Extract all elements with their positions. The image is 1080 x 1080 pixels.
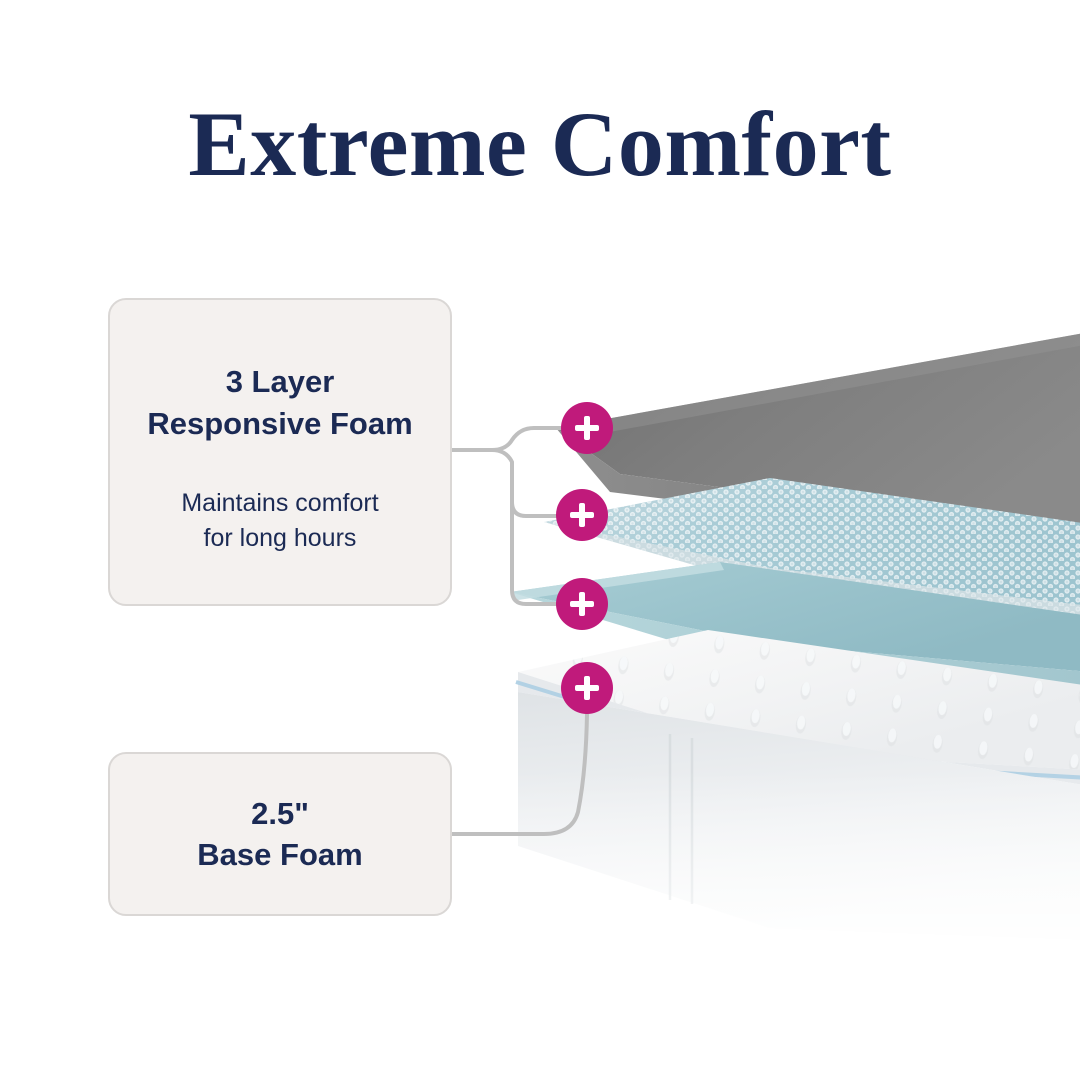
callout-card-base-foam[interactable]: 2.5" Base Foam xyxy=(108,752,452,916)
infographic-canvas: Extreme Comfort xyxy=(0,0,1080,1080)
plus-badge-blue-foam[interactable] xyxy=(556,578,608,630)
plus-badge-base-foam[interactable] xyxy=(561,662,613,714)
plus-badge-top-cover[interactable] xyxy=(561,402,613,454)
page-title: Extreme Comfort xyxy=(0,96,1080,193)
plus-icon xyxy=(579,592,585,616)
callout-subtext: Maintains comfort for long hours xyxy=(181,486,378,557)
plus-icon xyxy=(584,676,590,700)
callout-card-responsive-foam[interactable]: 3 Layer Responsive Foam Maintains comfor… xyxy=(108,298,452,606)
mattress-illustration xyxy=(470,300,1080,980)
plus-icon xyxy=(579,503,585,527)
callout-heading: 3 Layer Responsive Foam xyxy=(147,361,412,443)
callout-heading: 2.5" Base Foam xyxy=(197,793,362,875)
plus-badge-convoluted[interactable] xyxy=(556,489,608,541)
plus-icon xyxy=(584,416,590,440)
